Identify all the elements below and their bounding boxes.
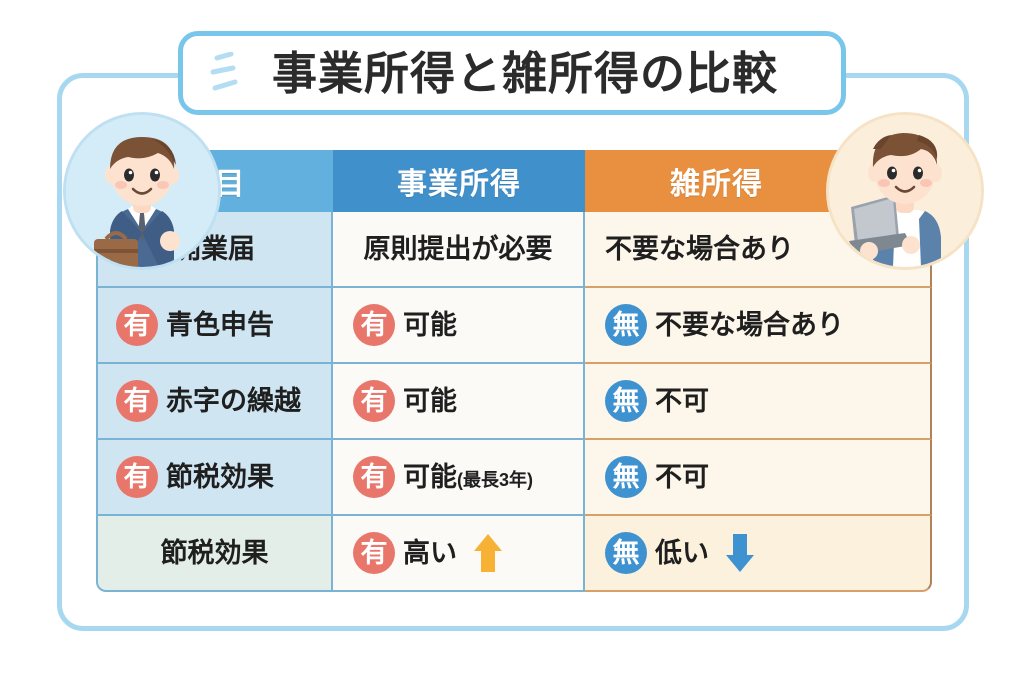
row-item-label: 節税効果 bbox=[161, 540, 269, 567]
yes-badge-icon: 有 bbox=[116, 304, 158, 346]
row-business-label: 可能 bbox=[403, 388, 457, 415]
table-row: 節税効果 有 高い 無 低い bbox=[96, 516, 932, 592]
row-item-cell: 有 節税効果 bbox=[96, 440, 333, 516]
yes-badge-icon: 有 bbox=[116, 380, 158, 422]
row-item-label: 赤字の繰越 bbox=[166, 388, 301, 415]
businessman-avatar bbox=[63, 112, 221, 270]
arrow-up-icon bbox=[473, 532, 503, 574]
row-misc-label: 不要な場合あり bbox=[605, 236, 794, 263]
header-label-business-income: 事業所得 bbox=[397, 159, 521, 203]
no-badge-icon: 無 bbox=[605, 304, 647, 346]
row-misc-cell: 無 不可 bbox=[585, 364, 932, 440]
row-misc-label: 不可 bbox=[655, 388, 709, 415]
table-header-row: 項目 事業所得 雑所得 bbox=[96, 150, 932, 212]
row-business-label: 可能 bbox=[403, 464, 457, 491]
row-business-cell: 有 可能 (最長3年) bbox=[333, 440, 585, 516]
row-business-cell: 有 可能 bbox=[333, 364, 585, 440]
page-title: 事業所得と雑所得の比較 bbox=[246, 51, 778, 96]
row-business-label: 可能 bbox=[403, 312, 457, 339]
no-badge-icon: 無 bbox=[605, 456, 647, 498]
arrow-down-icon bbox=[725, 532, 755, 574]
header-label-misc-income: 雑所得 bbox=[670, 159, 763, 203]
title-box: 事業所得と雑所得の比較 bbox=[178, 31, 846, 115]
row-business-cell: 有 高い bbox=[333, 516, 585, 592]
row-misc-cell: 無 不可 bbox=[585, 440, 932, 516]
table-row: 有 青色申告 有 可能 無 不要な場合あり bbox=[96, 288, 932, 364]
row-item-cell: 有 青色申告 bbox=[96, 288, 333, 364]
infographic-canvas: 事業所得と雑所得の比較 bbox=[0, 0, 1024, 683]
yes-badge-icon: 有 bbox=[353, 304, 395, 346]
yes-badge-icon: 有 bbox=[353, 456, 395, 498]
row-business-cell: 原則提出が必要 bbox=[333, 212, 585, 288]
row-misc-label: 不要な場合あり bbox=[655, 312, 844, 339]
row-business-label: 原則提出が必要 bbox=[364, 236, 553, 263]
row-business-note: (最長3年) bbox=[457, 471, 533, 489]
laptop-user-avatar bbox=[826, 112, 984, 270]
table-row: 有 節税効果 有 可能 (最長3年) 無 不可 bbox=[96, 440, 932, 516]
comparison-table: 項目 事業所得 雑所得 開業届 原則提出が必要 不要な場合あり 有 bbox=[96, 150, 932, 592]
table-row: 開業届 原則提出が必要 不要な場合あり bbox=[96, 212, 932, 288]
row-item-cell: 節税効果 bbox=[96, 516, 333, 592]
row-item-label: 青色申告 bbox=[166, 312, 274, 339]
row-misc-cell: 無 不要な場合あり bbox=[585, 288, 932, 364]
row-business-cell: 有 可能 bbox=[333, 288, 585, 364]
row-misc-label: 不可 bbox=[655, 464, 709, 491]
yes-badge-icon: 有 bbox=[353, 380, 395, 422]
row-business-label: 高い bbox=[403, 540, 457, 567]
yes-badge-icon: 有 bbox=[116, 456, 158, 498]
row-item-cell: 有 赤字の繰越 bbox=[96, 364, 333, 440]
no-badge-icon: 無 bbox=[605, 532, 647, 574]
table-row: 有 赤字の繰越 有 可能 無 不可 bbox=[96, 364, 932, 440]
header-cell-business-income: 事業所得 bbox=[333, 150, 585, 212]
row-item-label: 節税効果 bbox=[166, 464, 274, 491]
no-badge-icon: 無 bbox=[605, 380, 647, 422]
row-misc-label: 低い bbox=[655, 540, 709, 567]
yes-badge-icon: 有 bbox=[353, 532, 395, 574]
row-misc-cell: 無 低い bbox=[585, 516, 932, 592]
